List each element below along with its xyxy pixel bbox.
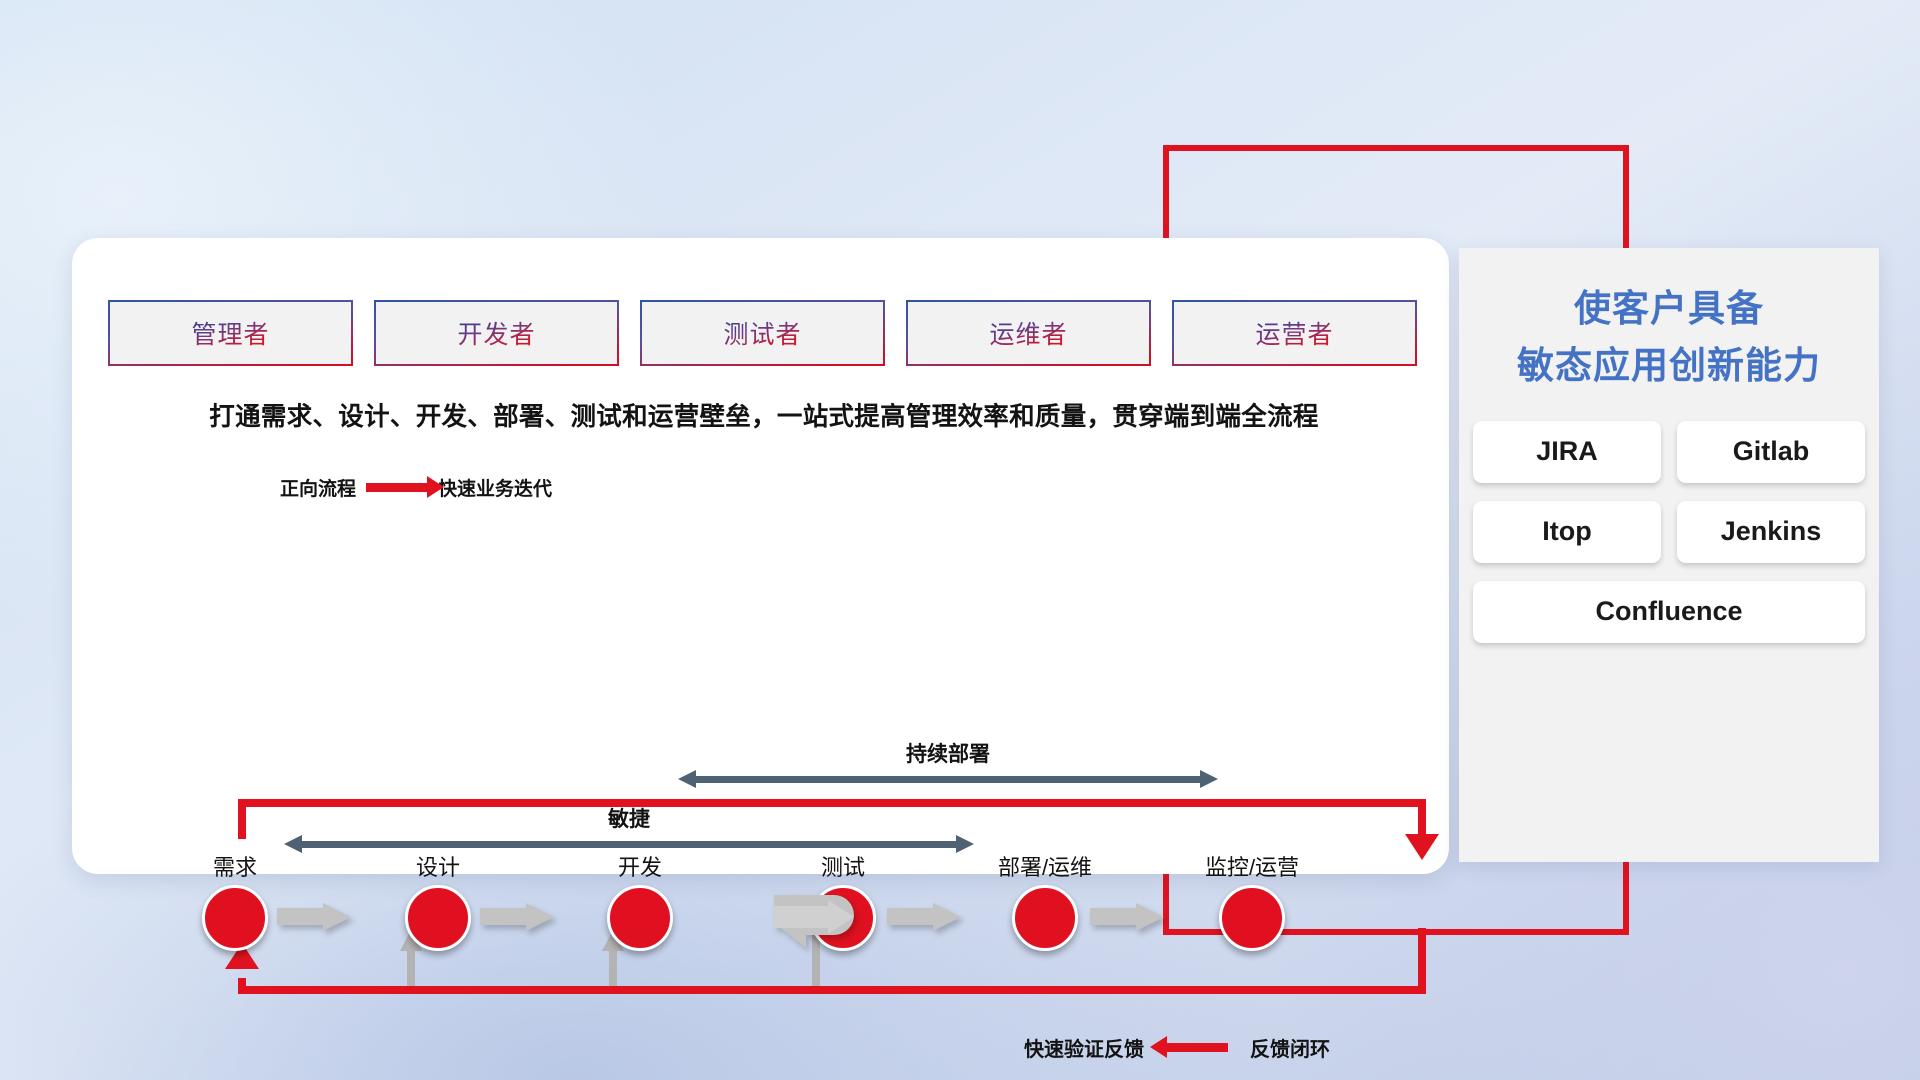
tool-chip-grid: JIRA Gitlab Itop Jenkins Confluence xyxy=(1473,421,1865,643)
tool-chip-label: Jenkins xyxy=(1721,516,1822,547)
stage-design[interactable]: 设计 xyxy=(368,850,508,951)
stage-dot-icon xyxy=(405,885,471,951)
role-box-tester[interactable]: 测试者 xyxy=(642,302,883,364)
role-label: 测试者 xyxy=(723,315,801,351)
stage-label: 部署/运维 xyxy=(975,850,1115,882)
tool-chip-label: Gitlab xyxy=(1733,436,1810,467)
panel-title: 使客户具备 敏态应用创新能力 xyxy=(1459,280,1879,395)
tool-chip-label: Confluence xyxy=(1595,596,1742,627)
stage-dot-icon xyxy=(1012,885,1078,951)
flow-arrow-requirement-design-icon xyxy=(277,903,351,929)
flow-arrow-design-develop-icon xyxy=(480,903,554,929)
role-box-manager[interactable]: 管理者 xyxy=(110,302,351,364)
stage-label: 开发 xyxy=(570,850,710,882)
stage-develop[interactable]: 开发 xyxy=(570,850,710,951)
panel-title-line-1: 使客户具备 xyxy=(1459,280,1879,337)
stage-monitor-operate[interactable]: 监控/运营 xyxy=(1182,850,1322,951)
stage-label: 监控/运营 xyxy=(1182,850,1322,882)
tool-chip-label: JIRA xyxy=(1536,436,1598,467)
tool-chip-label: Itop xyxy=(1542,516,1591,547)
role-label: 管理者 xyxy=(191,315,269,351)
tool-chip-gitlab[interactable]: Gitlab xyxy=(1677,421,1865,483)
value-proposition-panel: 使客户具备 敏态应用创新能力 JIRA Gitlab Itop Jenkins … xyxy=(1459,248,1879,862)
stage-deploy-ops[interactable]: 部署/运维 xyxy=(975,850,1115,951)
tool-chip-confluence[interactable]: Confluence xyxy=(1473,581,1865,643)
role-box-operator[interactable]: 运营者 xyxy=(1174,302,1415,364)
stage-dot-icon xyxy=(607,885,673,951)
panel-title-line-2: 敏态应用创新能力 xyxy=(1459,337,1879,394)
role-box-developer[interactable]: 开发者 xyxy=(376,302,617,364)
stage-dot-icon xyxy=(202,885,268,951)
outer-bracket-top-line xyxy=(1163,145,1629,151)
red-arrow-left-icon xyxy=(1166,1043,1228,1052)
feedback-loop-legend: 快速验证反馈 反馈闭环 xyxy=(1024,1033,1330,1062)
feedback-left-label: 快速验证反馈 xyxy=(1024,1033,1144,1062)
role-box-row: 管理者 开发者 测试者 运维者 运营者 xyxy=(110,302,1415,364)
feedback-right-label: 反馈闭环 xyxy=(1250,1033,1330,1062)
feedback-loop-right-lower xyxy=(1418,928,1426,994)
role-label: 运维者 xyxy=(989,315,1067,351)
tool-chip-itop[interactable]: Itop xyxy=(1473,501,1661,563)
stage-dot-icon xyxy=(1219,885,1285,951)
role-label: 运营者 xyxy=(1255,315,1333,351)
role-label: 开发者 xyxy=(457,315,535,351)
devops-overview-card: 管理者 开发者 测试者 运维者 运营者 打通需求、设计、开发、部署、测试和运营壁… xyxy=(72,238,1449,874)
riser-develop xyxy=(609,950,617,986)
flow-arrow-test-deploy-icon xyxy=(887,903,961,929)
role-box-ops-engineer[interactable]: 运维者 xyxy=(908,302,1149,364)
riser-design xyxy=(407,950,415,986)
feedback-loop-bottom-line xyxy=(238,986,1426,994)
u-turn-loop-icon xyxy=(772,886,868,962)
tool-chip-jira[interactable]: JIRA xyxy=(1473,421,1661,483)
stage-requirement[interactable]: 需求 xyxy=(165,850,305,951)
tool-chip-jenkins[interactable]: Jenkins xyxy=(1677,501,1865,563)
stage-label: 设计 xyxy=(368,850,508,882)
flow-arrow-deploy-monitor-icon xyxy=(1090,903,1164,929)
stage-label: 需求 xyxy=(165,850,305,882)
stage-label: 测试 xyxy=(773,850,913,882)
